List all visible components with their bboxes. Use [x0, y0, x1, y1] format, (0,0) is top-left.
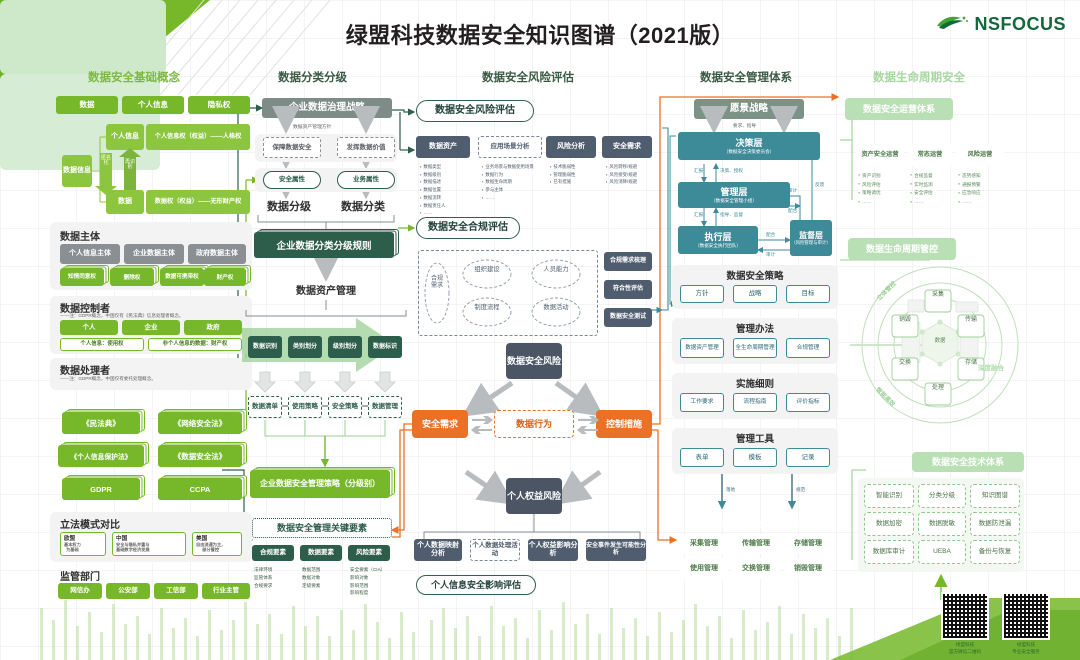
label-guide-supervise: 指导、监督: [720, 212, 743, 218]
reidentify-label: 再识别: [124, 160, 136, 171]
risk-block-asset: 数据资产: [416, 136, 470, 158]
label-cooperate-2: 配合: [788, 208, 797, 214]
risk-block-scenario: 应用场景分析: [478, 136, 542, 158]
step-data-identify: 数据识别: [248, 336, 282, 358]
layer-management: 管理层 （数据安全管理小组）: [678, 182, 790, 208]
lifecycle-exchange-mgmt: 交换管理: [732, 559, 780, 579]
tech-classification: 分类分级: [918, 484, 966, 508]
rule-item-eval-index: 评价指标: [786, 393, 830, 412]
group-title-measures: 管理办法: [672, 321, 838, 335]
layer-decision: 决策层 （数据安全决策委员会）: [678, 132, 820, 160]
lifecycle-node-destroy: 销毁: [892, 317, 918, 325]
label-feedback: 反馈: [815, 182, 824, 188]
label-data-grading: 数据分级: [256, 198, 322, 214]
node-data-info: 数据信息: [62, 155, 92, 187]
lifecycle-transmit-mgmt: 传输管理: [732, 534, 780, 554]
risk-analysis-items: 技术脆弱性管理脆弱性 已有措施: [550, 163, 575, 186]
group-title-tools: 管理工具: [672, 431, 838, 445]
concept-data: 数据: [56, 96, 118, 114]
policy-item-fangzhen: 方针: [680, 285, 724, 303]
layer-supervision: 监督层 （风险管理与审计）: [790, 220, 832, 256]
qr-caption-service: 绿盟科技 专业安全服务: [996, 642, 1056, 656]
right-property: 财产权: [204, 268, 246, 286]
ops-risk-items: 态势感知通报预警 应急响应……: [958, 172, 981, 207]
element-list-risk: 安全要素（CIA） 影响对象 影响范围 影响程度: [350, 566, 385, 597]
pia-processing-activity: 个人数据处理活动: [470, 539, 520, 561]
risk-assessment-title: 数据安全风险评估: [416, 100, 534, 122]
pia-incident-likelihood: 安全事件发生可能性分析: [586, 539, 646, 561]
lifecycle-node-transmit: 传输: [958, 317, 984, 325]
page-title: 绿盟科技数据安全知识图谱（2021版）: [0, 18, 1080, 50]
rule-item-process-guide: 流程指南: [733, 393, 777, 412]
label-audit-1: 审计: [766, 252, 775, 258]
column-header-management-system: 数据安全管理体系: [700, 69, 792, 85]
law-dsl: 《数据安全法》: [158, 445, 242, 467]
element-list-compliance: 法律环境 监管体系 合规要求: [254, 566, 272, 589]
compliance-need-label: 合规需求: [431, 276, 443, 290]
qr-security-service[interactable]: [1002, 592, 1050, 640]
law-cybersecurity: 《网络安全法》: [158, 412, 242, 434]
center-control-measures: 控制措施: [596, 410, 652, 438]
classification-rule-card: 企业数据分类分级规则: [254, 232, 394, 258]
controller-nonpersonal-property-right: 非个人信息的数据：财产权: [148, 338, 242, 351]
ops-normal-head: 常态运营: [908, 144, 952, 166]
key-elements-title: 数据安全管理关键要素: [252, 518, 392, 538]
element-head-data: 数据要素: [300, 545, 342, 561]
ring-label-control: 立体管控: [874, 279, 897, 302]
tech-system-title: 数据安全技术体系: [912, 452, 1024, 472]
tech-backup-recovery: 备份与恢复: [970, 540, 1020, 564]
layer-execution: 执行层 （数据安全执行团队）: [678, 226, 758, 254]
reidentify-arrow-head: [119, 148, 141, 157]
tech-smart-recognition: 智能识别: [864, 484, 914, 508]
regulator-mps: 公安部: [106, 583, 150, 599]
policy-item-zhanlue: 战略: [733, 285, 777, 303]
risk-scenario-items: 业务场景与数据使用场景数据行为 数据生命周期参与主体 ……: [482, 163, 534, 202]
ops-normal-items: 合规监督实时监测 安全评估……: [910, 172, 933, 207]
lifecycle-collect-mgmt: 采集管理: [680, 534, 728, 554]
law-civil-code: 《民法典》: [62, 412, 140, 434]
goal-realize-value: 发挥数据价值: [337, 137, 395, 158]
label-audit-2: 审计: [788, 188, 797, 194]
lifecycle-policy-title: 数据全生命周期安全管控策略: [672, 518, 838, 530]
lifecycle-usage-mgmt: 使用管理: [680, 559, 728, 579]
data-subject-title: 数据主体: [60, 228, 100, 243]
ring-label-fusion: 深度融合: [978, 362, 1004, 372]
risk-asset-items: 数据类型数据级别 数据描述数据位置 数据流转数据责任人 ……: [420, 163, 445, 217]
enterprise-security-policy-card: 企业数据安全管理策略（分级别）: [250, 470, 390, 498]
legislation-compare-title: 立法模式对比: [60, 516, 120, 531]
brand-logo: NSFOCUS: [935, 12, 1066, 37]
data-processor-note: ——注：GDPR概念，中国仅有委托处理概念。: [60, 376, 156, 382]
anonymize-arrow-head: [95, 186, 117, 195]
asset-management-title: 数据资产管理: [256, 282, 396, 297]
label-report-1: 汇报: [694, 168, 703, 174]
step-level-divide: 级别划分: [328, 336, 362, 358]
tech-masking: 数据脱敏: [918, 512, 966, 536]
tool-item-record: 记录: [786, 448, 830, 467]
pia-mapping-analysis: 个人数据映射分析: [414, 539, 462, 561]
compliance-security-test: 数据安全测试: [604, 308, 652, 327]
out-security-policy: 安全策略: [328, 396, 362, 418]
node-data-right: 数据权（权益）——无形财产权: [146, 190, 250, 214]
concept-privacy-right: 隐私权: [188, 96, 250, 114]
compliance-people-label: 人员能力: [536, 266, 576, 274]
element-list-data: 数据范围 数据对象 定级要素: [302, 566, 320, 589]
subject-personal: 个人信息主体: [60, 244, 120, 264]
brand-name: NSFOCUS: [974, 14, 1066, 35]
compliance-org-label: 组织建设: [467, 266, 507, 274]
tool-item-form: 表单: [680, 448, 724, 467]
ops-asset-items: 资产识别风险评估 策略调优……: [858, 172, 881, 207]
ops-risk-head: 风险运营: [956, 144, 1004, 166]
label-decide-authorize: 决策、授权: [720, 168, 743, 174]
element-head-risk: 风险要素: [348, 545, 390, 561]
lifecycle-center-label: 数据: [929, 338, 951, 344]
step-category-divide: 类别划分: [288, 336, 322, 358]
nsfocus-eagle-icon: [935, 12, 969, 37]
subject-enterprise: 企业数据主体: [124, 244, 184, 264]
tech-knowledge-graph: 知识图谱: [970, 484, 1020, 508]
lifecycle-destroy-mgmt: 销毁管理: [784, 559, 832, 579]
regulator-cac: 网信办: [58, 583, 102, 599]
vision-arrow-label: 要求、指导: [733, 123, 756, 129]
qr-official-wechat[interactable]: [941, 592, 989, 640]
risk-requirement-items: 风险转移/规避风险接受/规避 风险消降/规避: [606, 163, 637, 186]
column-header-classification: 数据分类分级: [278, 69, 347, 85]
anonymize-label: 匿名化: [100, 156, 112, 167]
compliance-activity-label: 数据活动: [536, 304, 576, 312]
center-data-security-risk: 数据安全风险: [506, 343, 562, 379]
right-portability: 数据可携带权: [160, 268, 204, 286]
lifecycle-node-collect: 采集: [925, 292, 951, 300]
risk-block-requirement: 安全需求: [602, 136, 652, 158]
compliance-dashed-panel: [418, 250, 598, 336]
data-processor-title: 数据处理者: [60, 362, 110, 377]
group-title-rules: 实施细则: [672, 376, 838, 390]
label-cooperate-1: 配合: [766, 232, 775, 238]
regulator-miit: 工信部: [154, 583, 198, 599]
goal-ensure-security: 保障数据安全: [263, 137, 321, 158]
attr-security: 安全属性: [263, 171, 321, 189]
element-head-compliance: 合规要素: [252, 545, 294, 561]
column-header-basic-concepts: 数据安全基础概念: [88, 69, 180, 85]
label-data-classification: 数据分类: [330, 198, 396, 214]
regulators-title: 监管部门: [60, 568, 100, 583]
lifecycle-node-exchange: 交换: [892, 360, 918, 368]
tech-db-audit: 数据库审计: [864, 540, 914, 564]
out-usage-policy: 使用策略: [288, 396, 322, 418]
out-data-inventory: 数据清单: [248, 396, 282, 418]
concept-personal-info: 个人信息: [122, 96, 184, 114]
label-standardize: 规范: [796, 487, 805, 493]
rule-item-work-req: 工作要求: [680, 393, 724, 412]
pia-rights-impact: 个人权益影响分析: [528, 539, 578, 561]
pia-title: 个人信息安全影响评估: [416, 575, 536, 595]
tech-dlp: 数据防泄漏: [970, 512, 1020, 536]
policy-item-mubiao: 目标: [786, 285, 830, 303]
right-consent: 知情同意权: [60, 268, 104, 286]
law-gdpr: GDPR: [62, 478, 140, 500]
attr-business: 业务属性: [337, 171, 395, 189]
compliance-process-label: 制度流程: [467, 304, 507, 312]
risk-block-analysis: 风险分析: [546, 136, 596, 158]
compliance-assessment-title: 数据安全合规评估: [416, 217, 520, 239]
measure-item-compliance: 合规管理: [786, 338, 830, 358]
ops-asset-head: 资产安全运营: [856, 144, 904, 166]
law-pipl: 《个人信息保护法》: [58, 445, 144, 467]
legislation-cn: 中国 安全与隐私并重与 基础数字经济发展: [112, 532, 186, 556]
group-title-policy: 数据安全策略: [672, 268, 838, 282]
vision-strategy: 愿景战略: [694, 99, 804, 119]
strategy-note: 数据资产管理方针: [293, 123, 331, 130]
ring-label-efficient: 智能高效: [874, 385, 897, 408]
column-header-risk-assessment: 数据安全风险评估: [482, 69, 574, 85]
center-data-behavior: 数据行为: [494, 410, 574, 438]
legislation-us: 美国 自由流通为主， 部分管控: [192, 532, 242, 556]
tech-encryption: 数据加密: [864, 512, 914, 536]
controller-enterprise: 企业: [122, 320, 180, 335]
center-security-requirement: 安全需求: [412, 410, 468, 438]
out-data-management: 数据管理: [368, 396, 402, 418]
label-landing: 落地: [726, 487, 735, 493]
qr-caption-official: 绿盟科技 官方微信二维码: [935, 642, 995, 656]
node-personal-info-right: 个人信息权（权益）——人格权: [146, 124, 250, 150]
regulator-industry: 行业主管: [202, 583, 250, 599]
lifecycle-control-title: 数据生命周期管控: [848, 238, 956, 260]
measure-item-lifecycle: 全生命周期管理: [733, 338, 777, 358]
center-personal-rights-risk: 个人权益风险: [506, 478, 562, 514]
step-data-label: 数据标识: [368, 336, 402, 358]
lifecycle-node-process: 处理: [925, 385, 951, 393]
controller-individual: 个人: [60, 320, 118, 335]
measure-item-asset: 数据资产管理: [680, 338, 724, 358]
tech-ueba: UEBA: [918, 540, 966, 564]
lifecycle-storage-mgmt: 存储管理: [784, 534, 832, 554]
law-ccpa: CCPA: [158, 478, 242, 500]
data-controller-note: ——注：GDPR概念，中国仅有《民法典》信息处理者概念。: [60, 313, 184, 319]
legislation-eu: 欧盟 基本权力 为基础: [60, 532, 106, 556]
compliance-conformity-eval: 符合性评估: [604, 280, 652, 299]
controller-personal-use-right: 个人信息：使用权: [60, 338, 144, 351]
node-personal-info: 个人信息: [106, 124, 144, 150]
tool-item-template: 模板: [733, 448, 777, 467]
controller-government: 政府: [184, 320, 242, 335]
label-report-2: 汇报: [694, 212, 703, 218]
compliance-req-review: 合规需求梳理: [604, 252, 652, 271]
column-header-lifecycle-security: 数据生命周期安全: [873, 69, 965, 85]
right-deletion: 删除权: [110, 268, 154, 286]
enterprise-governance-strategy: 企业数据治理战略: [262, 98, 392, 118]
ops-system-title: 数据安全运营体系: [845, 98, 953, 120]
subject-government: 政府数据主体: [188, 244, 246, 264]
